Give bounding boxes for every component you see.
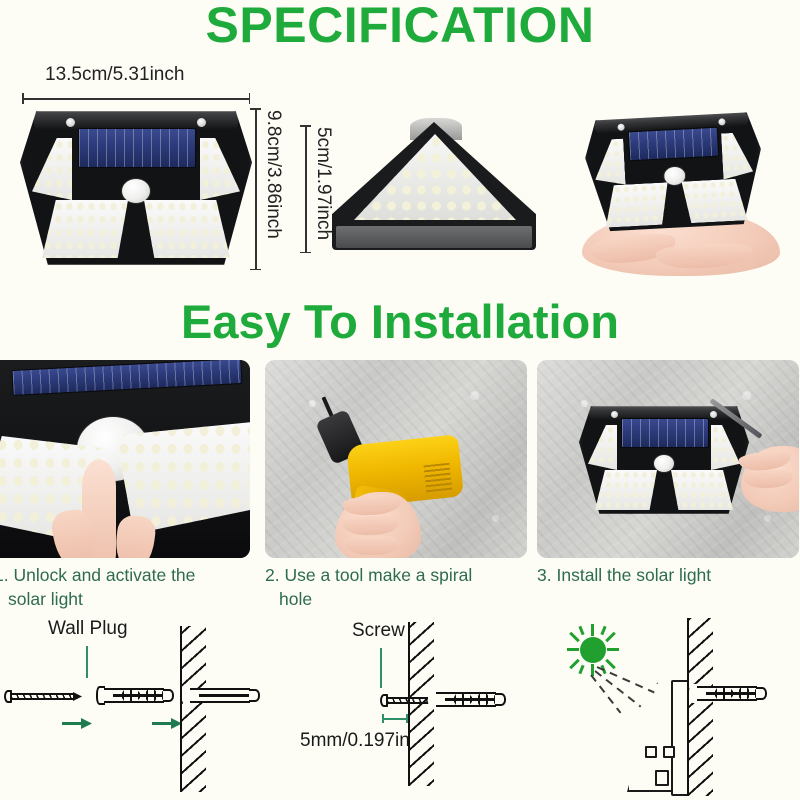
specification-section: 13.5cm/5.31inch 9.8cm/3.86inch 5cm/1.97i… — [0, 60, 800, 290]
dimension-line-depth — [300, 125, 311, 253]
led-panel-right — [671, 470, 733, 510]
dimension-line-height — [250, 108, 261, 270]
housing-screw-right — [197, 118, 206, 127]
dimension-label-width: 13.5cm/5.31inch — [45, 64, 184, 86]
page-title-installation: Easy To Installation — [0, 294, 800, 349]
caption-step-2-line1: Use a tool make a spiral — [284, 565, 472, 585]
dimension-label-depth: 5cm/1.97inch — [312, 127, 334, 240]
dimension-line-width — [22, 93, 250, 104]
led-panel-left — [42, 200, 128, 258]
caption-step-3-line1: Install the solar light — [556, 565, 711, 585]
diagram-screw: Screw 5mm/0.197in — [300, 618, 550, 800]
direction-arrow-2 — [152, 718, 182, 729]
caption-step-2-number: 2. — [265, 565, 280, 585]
photo-mount-light — [537, 360, 799, 558]
photo-press-power-button — [0, 360, 250, 558]
lamp-vent-1 — [645, 746, 657, 758]
infographic-page: SPECIFICATION 13.5cm/5.31inch 9.8cm/3.86… — [0, 0, 800, 800]
housing-screw-right — [710, 411, 717, 418]
caption-step-3: 3. Install the solar light — [537, 563, 792, 587]
wall-plug-inserted — [689, 684, 767, 703]
caption-step-2-line2: hole — [265, 587, 515, 611]
installation-photos — [0, 360, 800, 560]
product-hand-scale-view — [560, 108, 796, 280]
photo-drill-hole — [265, 360, 527, 558]
lamp-vent-3 — [655, 770, 669, 786]
led-panel-right — [144, 200, 230, 258]
mounting-diagrams: Wall Plug Screw — [0, 618, 800, 800]
screw-size-label: 5mm/0.197in — [300, 730, 410, 752]
solar-panel — [621, 418, 709, 448]
caption-step-1-line1: Unlock and activate the — [13, 565, 195, 585]
screw-label: Screw — [352, 620, 405, 642]
wall-plug-graphic — [96, 686, 174, 705]
caption-step-2: 2. Use a tool make a spiral hole — [265, 563, 515, 611]
wall-hatch — [180, 626, 206, 792]
page-title-specification: SPECIFICATION — [0, 0, 800, 54]
wall-plug-leader-line — [86, 646, 88, 678]
screw-diameter-tick — [382, 714, 408, 723]
wall-plug-inserted — [182, 686, 260, 705]
caption-step-1: 1. Unlock and activate the solar light — [0, 563, 234, 611]
wall-hatch — [687, 618, 713, 796]
product-front-view — [20, 108, 252, 268]
installation-captions: 1. Unlock and activate the solar light 2… — [0, 563, 800, 619]
caption-step-1-number: 1. — [0, 565, 9, 585]
dimension-label-height: 9.8cm/3.86inch — [262, 110, 284, 239]
caption-step-3-number: 3. — [537, 565, 552, 585]
direction-arrow-1 — [62, 718, 92, 729]
screw-leader-line — [380, 648, 382, 688]
housing-screw-left — [611, 411, 618, 418]
mounting-base — [336, 226, 532, 248]
caption-step-1-line2: solar light — [0, 587, 234, 611]
diagram-mounted-light — [545, 618, 800, 800]
led-panel-left — [595, 470, 657, 510]
sun-icon — [567, 624, 619, 676]
lamp-vent-2 — [663, 746, 675, 758]
screw-graphic — [4, 690, 82, 703]
solar-panel — [628, 127, 719, 162]
solar-panel — [78, 128, 196, 168]
diagram-wall-plug: Wall Plug — [0, 618, 270, 800]
product-side-view — [332, 122, 536, 250]
wall-plug-label: Wall Plug — [48, 618, 128, 640]
wall-plug-inserted — [428, 690, 506, 709]
led-panel-left — [604, 182, 670, 227]
housing-screw-left — [66, 118, 75, 127]
